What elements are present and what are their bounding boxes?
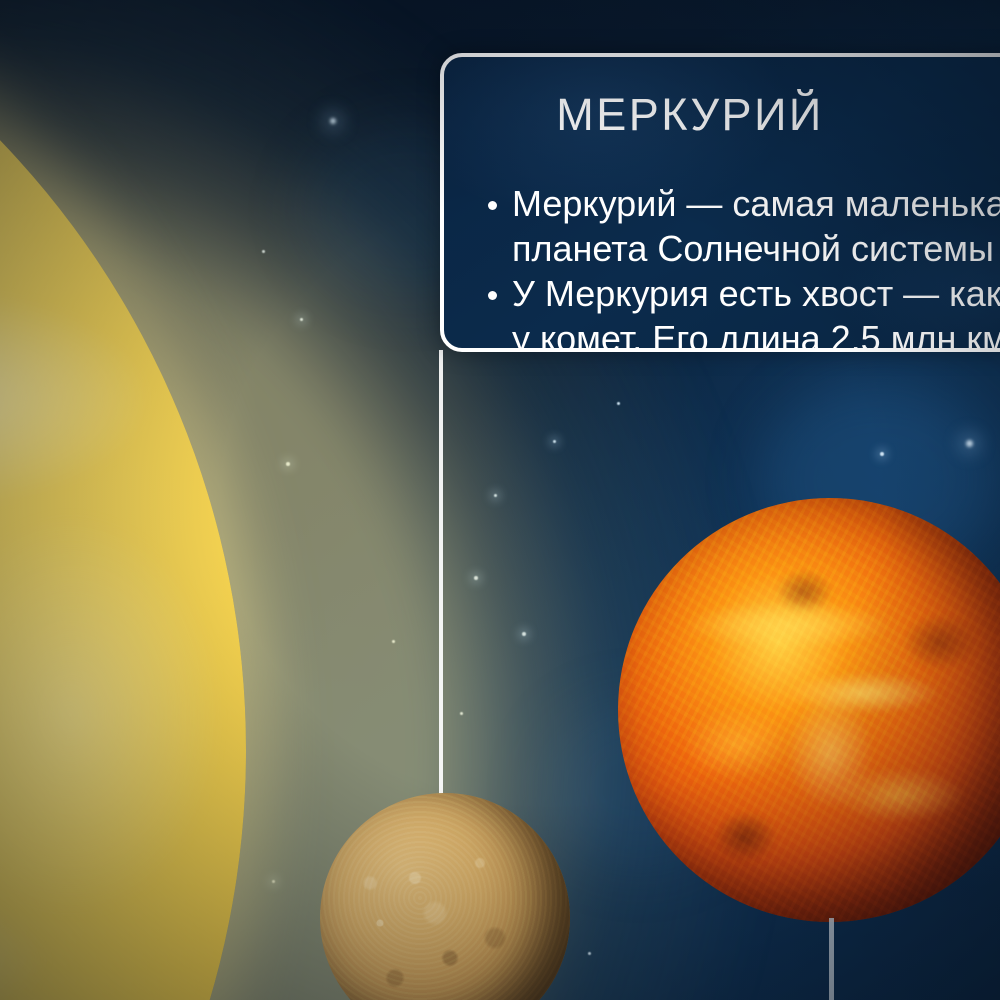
slide-canvas: МЕРКУРИЙ Меркурий — самая маленькая план…	[0, 0, 1000, 1000]
list-item: У Меркурия есть хвост — как у комет. Его…	[484, 271, 1000, 352]
list-item: Меркурий — самая маленькая планета Солне…	[484, 181, 1000, 271]
card-bullet-list: Меркурий — самая маленькая планета Солне…	[484, 181, 1000, 352]
mercury-info-card[interactable]: МЕРКУРИЙ Меркурий — самая маленькая план…	[440, 53, 1000, 352]
venus-leader-line	[829, 918, 834, 1000]
mercury-leader-line	[439, 350, 443, 798]
star-icon	[966, 440, 973, 447]
star-icon	[880, 452, 884, 456]
card-title: МЕРКУРИЙ	[444, 89, 1000, 141]
